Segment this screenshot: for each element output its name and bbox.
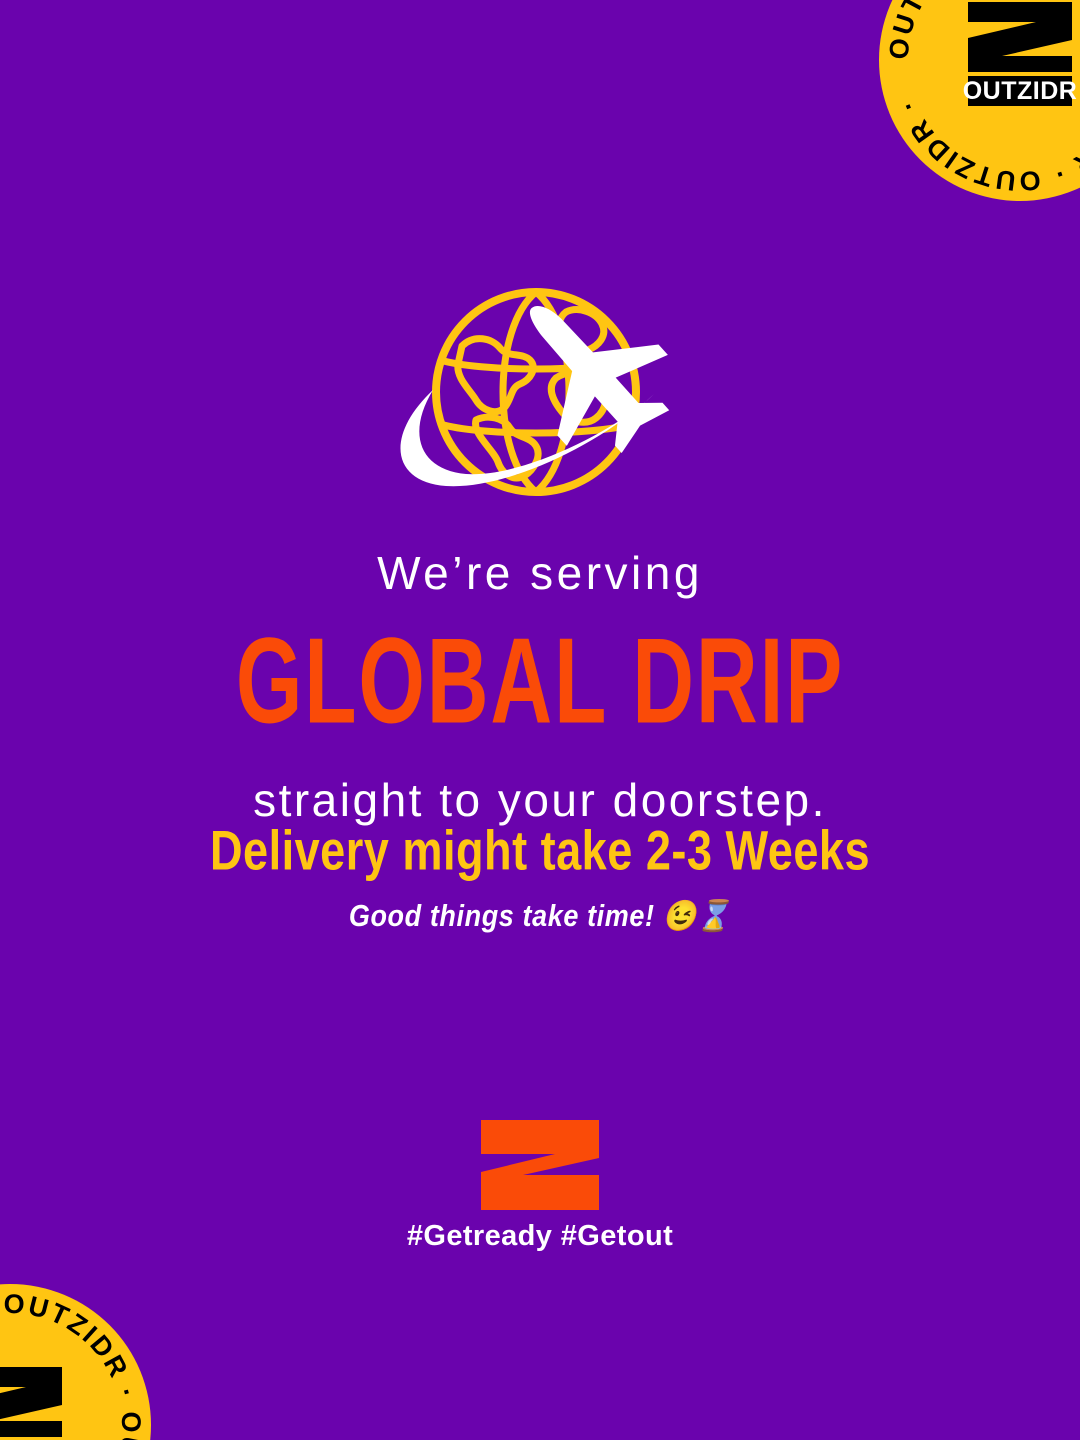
promo-poster: OUTZIDR · OUTZIDR · OUTZIDR · OUTZIDR · … (0, 0, 1080, 1440)
delivery-notice-block: Delivery might take 2-3 Weeks Good thing… (0, 820, 1080, 929)
outzidr-badge-top-right: OUTZIDR · OUTZIDR · OUTZIDR · OUTZIDR · … (875, 0, 1080, 205)
delivery-headline: Delivery might take 2-3 Weeks (22, 820, 1059, 881)
delivery-subline: Good things take time! 😉⌛ (0, 900, 1080, 933)
globe-airplane-icon (0, 268, 1080, 513)
badge-z-logo (0, 1367, 62, 1437)
footer-brand-block: #Getready #Getout (0, 1120, 1080, 1253)
outzidr-badge-bottom-left: OUTZIDR · OUTZIDR · OUTZIDR · OUTZIDR · … (0, 1280, 155, 1440)
headline-line-3: straight to your doorstep. (0, 775, 1080, 826)
hashtags-text: #Getready #Getout (0, 1220, 1080, 1253)
outzidr-z-logo (479, 1120, 601, 1210)
badge-z-logo (968, 2, 1072, 72)
svg-text:OUTZIDR: OUTZIDR (963, 77, 1078, 105)
headline-line-2: GLOBAL DRIP (38, 621, 1042, 742)
headline-line-1: We’re serving (0, 548, 1080, 599)
airplane-icon (482, 268, 695, 477)
headline-block: We’re serving GLOBAL DRIP straight to yo… (0, 548, 1080, 825)
